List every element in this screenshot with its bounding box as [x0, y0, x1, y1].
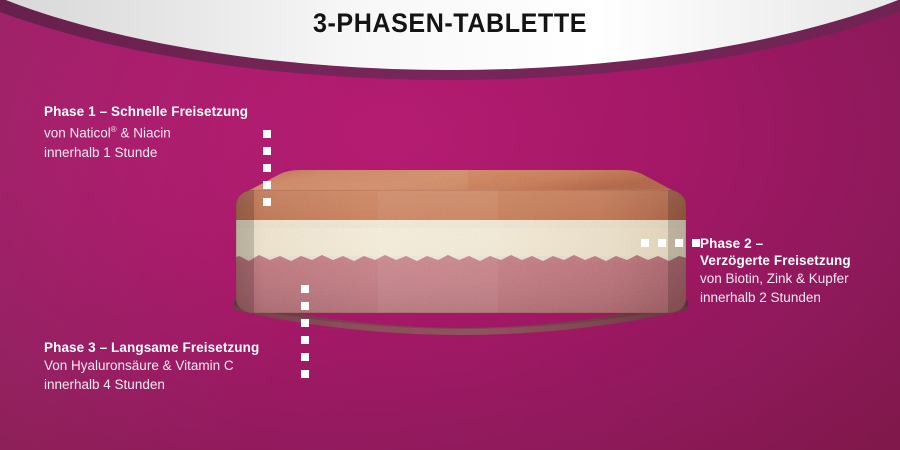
- callout-phase-2-title-line-1: Phase 2 –: [700, 235, 851, 252]
- callout-phase-3: Phase 3 – Langsame Freisetzung Von Hyalu…: [44, 339, 259, 394]
- connector-dot: [641, 239, 649, 247]
- connector-dot: [263, 164, 271, 172]
- callout-phase-3-title: Phase 3 – Langsame Freisetzung: [44, 339, 259, 356]
- callout-phase-3-line-2: innerhalb 4 Stunden: [44, 375, 259, 394]
- callout-phase-1-line-2: innerhalb 1 Stunde: [44, 143, 248, 162]
- connector-phase-2: [641, 239, 709, 247]
- infographic-canvas: 3-PHASEN-TABLETTE: [0, 0, 900, 450]
- connector-dot: [263, 147, 271, 155]
- callout-phase-1: Phase 1 – Schnelle Freisetzung von Natic…: [44, 103, 248, 162]
- connector-dot: [263, 181, 271, 189]
- connector-dot: [263, 198, 271, 206]
- connector-phase-1: [263, 130, 271, 215]
- tablet-layers: [228, 186, 694, 320]
- connector-dot: [675, 239, 683, 247]
- callout-phase-1-title: Phase 1 – Schnelle Freisetzung: [44, 103, 248, 120]
- connector-dot: [301, 336, 309, 344]
- callout-phase-1-line-1: von Naticol® & Niacin: [44, 120, 248, 143]
- tablet-illustration: [228, 160, 694, 345]
- callout-phase-2: Phase 2 – Verzögerte Freisetzung von Bio…: [700, 235, 851, 307]
- connector-dot: [263, 130, 271, 138]
- connector-dot: [301, 370, 309, 378]
- connector-dot: [301, 353, 309, 361]
- callout-phase-3-line-1: Von Hyaluronsäure & Vitamin C: [44, 356, 259, 375]
- connector-dot: [301, 302, 309, 310]
- connector-dot: [658, 239, 666, 247]
- callout-phase-1-line-1-rest: & Niacin: [117, 126, 171, 141]
- connector-phase-3: [301, 285, 309, 387]
- callout-phase-2-line-2: innerhalb 2 Stunden: [700, 288, 851, 307]
- page-title: 3-PHASEN-TABLETTE: [32, 8, 869, 39]
- connector-dot: [301, 285, 309, 293]
- callout-phase-1-line-1-text: von Naticol: [44, 126, 111, 141]
- callout-phase-2-title-line-2: Verzögerte Freisetzung: [700, 252, 851, 269]
- connector-dot: [301, 319, 309, 327]
- connector-dot: [692, 239, 700, 247]
- callout-phase-2-line-1: von Biotin, Zink & Kupfer: [700, 269, 851, 288]
